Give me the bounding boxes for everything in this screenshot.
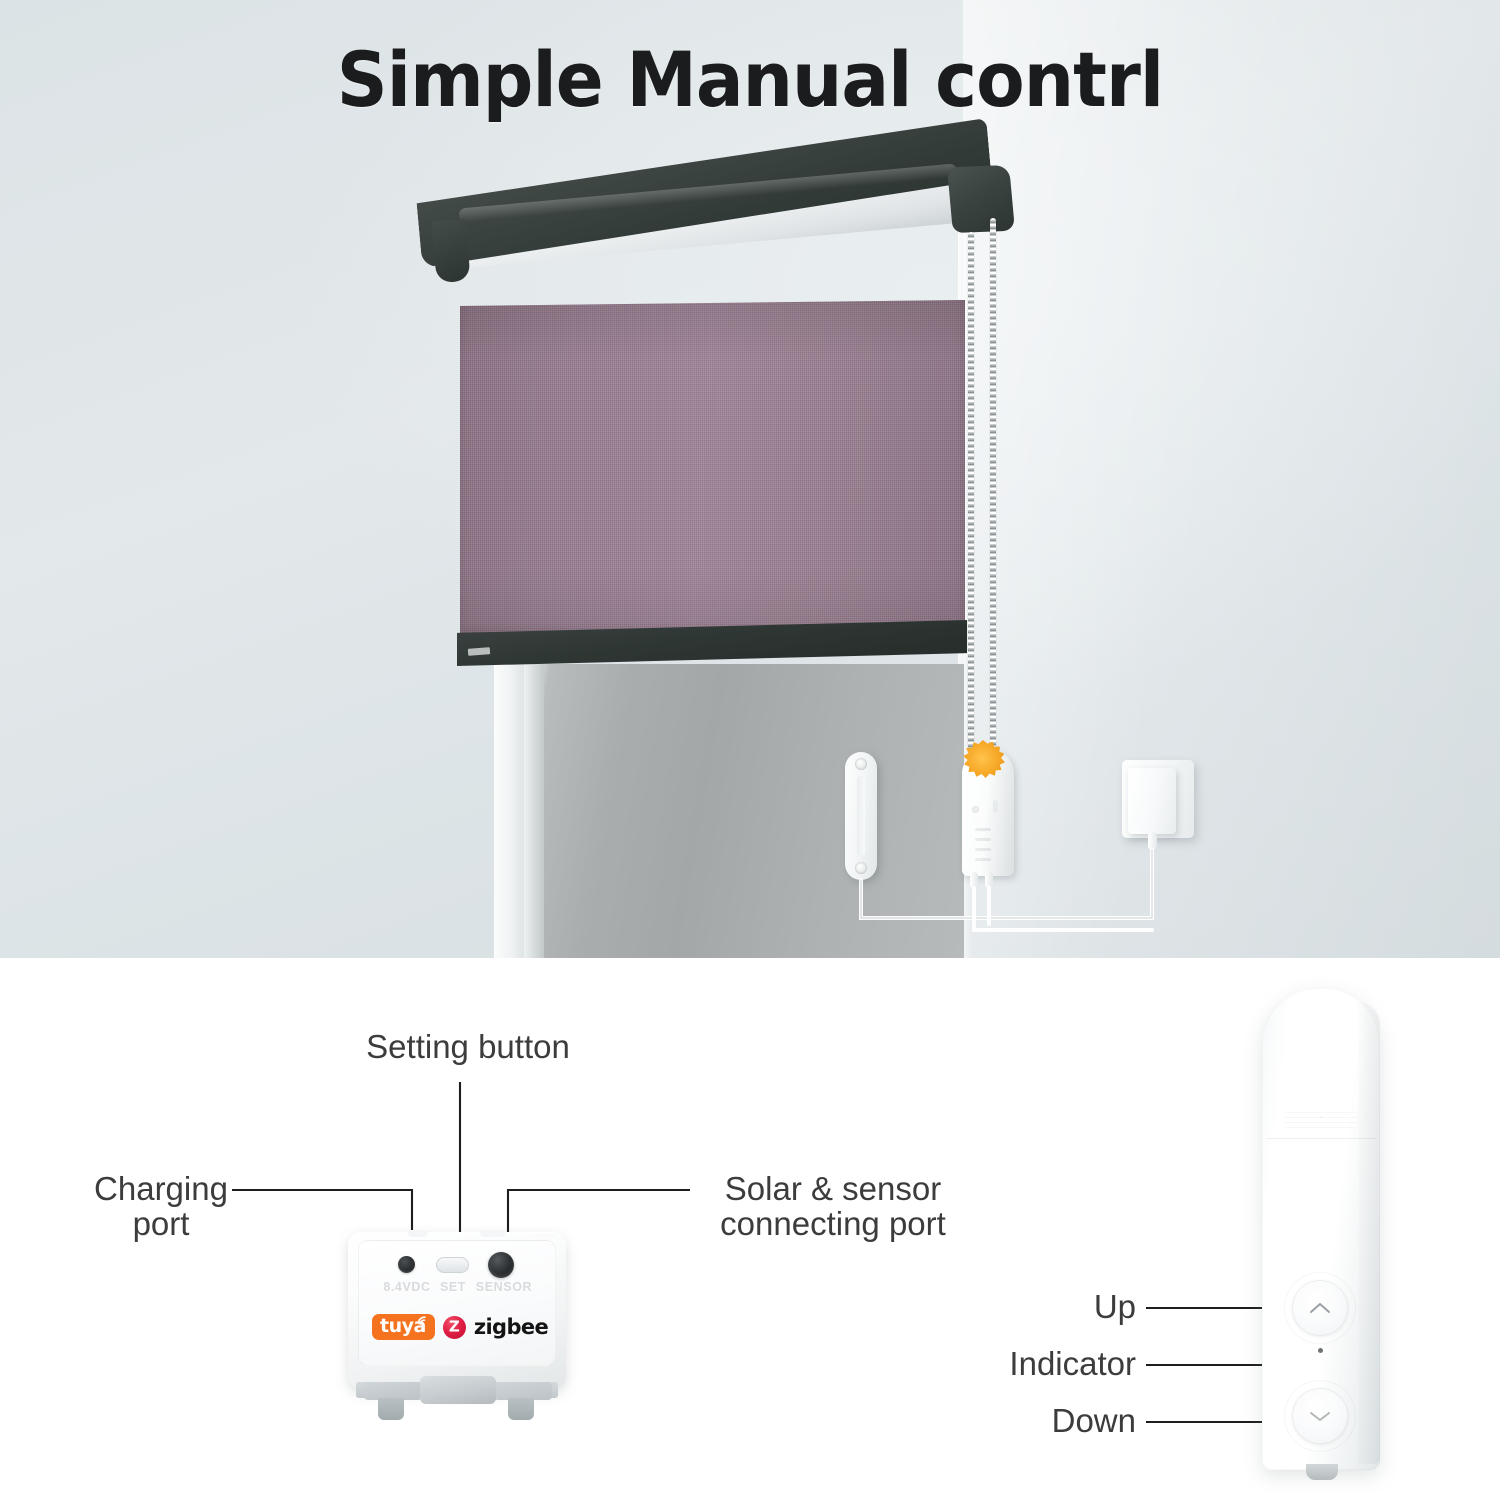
motor-device-notch-right — [480, 1230, 506, 1237]
zigbee-logo-text: zigbee — [474, 1317, 548, 1338]
brand-logos: tuya Z zigbee — [372, 1312, 544, 1342]
callout-label-indicator: Indicator — [962, 1347, 1136, 1382]
motor-mount-tab-left — [378, 1398, 404, 1420]
tuya-logo: tuya — [372, 1314, 435, 1340]
power-cable — [0, 0, 1500, 958]
remote-control-diagram — [1262, 988, 1380, 1480]
motor-device-notch-left — [408, 1230, 428, 1237]
setting-button[interactable] — [436, 1257, 469, 1273]
motor-device-diagram: 8.4VDC SET SENSOR tuya Z zigbee — [348, 1232, 566, 1422]
wifi-arc-icon — [417, 1315, 430, 1326]
callout-label-down-button: Down — [1000, 1404, 1136, 1439]
remote-bottom-tip — [1306, 1464, 1338, 1480]
motor-mount-foot-center — [420, 1376, 496, 1404]
callout-label-up-button: Up — [1010, 1290, 1136, 1325]
chevron-up-icon — [1309, 1301, 1331, 1315]
installation-photo-panel: Simple Manual contrl — [0, 0, 1500, 958]
callout-label-solar-sensor-port: Solar & sensor connecting port — [688, 1172, 978, 1242]
motor-mount-tab-right — [508, 1398, 534, 1420]
up-button[interactable] — [1292, 1280, 1348, 1336]
sensor-port-marking: SENSOR — [468, 1280, 540, 1294]
callout-label-charging-port: Charging port — [50, 1172, 272, 1242]
zigbee-mark-icon: Z — [443, 1316, 466, 1339]
zigbee-z-glyph: Z — [449, 1319, 460, 1334]
charging-port[interactable] — [398, 1256, 415, 1273]
remote-body-edge-shading — [1358, 1002, 1380, 1464]
remote-seam — [1266, 1138, 1376, 1172]
indicator-led — [1318, 1348, 1323, 1353]
solar-sensor-port[interactable] — [488, 1252, 514, 1278]
chevron-down-icon — [1309, 1409, 1331, 1423]
callout-label-setting-button: Setting button — [338, 1030, 598, 1065]
page-title: Simple Manual contrl — [53, 42, 1448, 118]
down-button[interactable] — [1292, 1388, 1348, 1444]
